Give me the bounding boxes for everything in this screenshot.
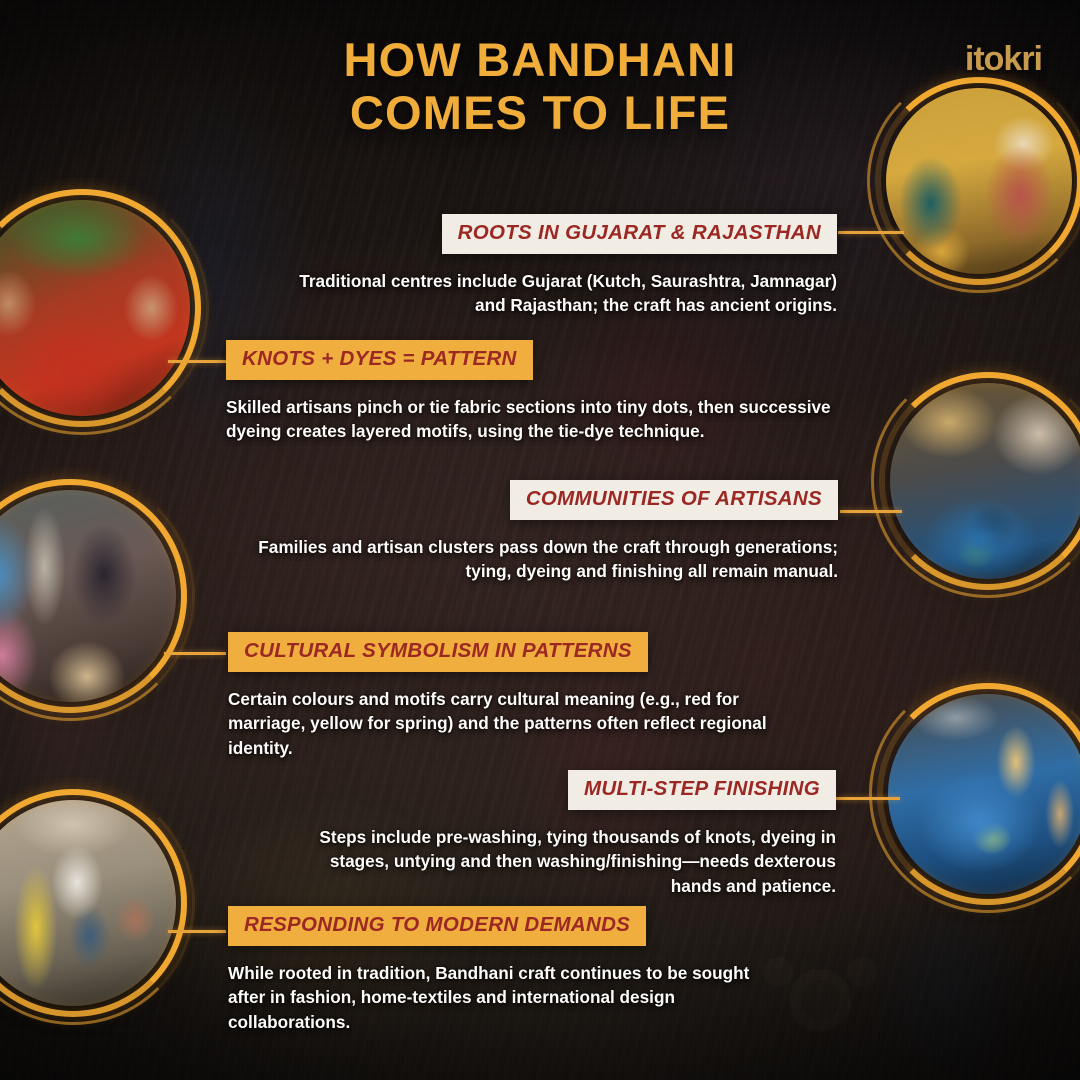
photo-medallion-artisan-dyeing-blue-tub [890,383,1080,579]
connector-stem-section-3 [840,510,902,513]
connector-stem-section-6 [168,930,226,933]
photo-medallion-hands-tying-red-fabric [0,200,190,416]
photo-medallion-women-tying-blue-pink-saris [0,490,176,702]
photo-medallion-blue-vat-yellow-dye [888,694,1080,894]
brand-logo[interactable]: itokri [965,40,1042,79]
section-roots-in-gujarat-rajasthan: ROOTS IN GUJARAT & RAJASTHAN Traditional… [237,214,837,318]
section-badge[interactable]: KNOTS + DYES = PATTERN [226,340,533,380]
connector-stem-section-5 [836,797,900,800]
section-badge[interactable]: MULTI-STEP FINISHING [568,770,836,810]
connector-stem-section-2 [168,360,226,363]
section-badge[interactable]: RESPONDING TO MODERN DEMANDS [228,906,646,946]
connector-stem-section-1 [838,231,904,234]
section-body: Skilled artisans pinch or tie fabric sec… [226,395,836,444]
photo-medallion-artisan-lifting-yellow-cloth [0,800,176,1006]
section-badge[interactable]: CULTURAL SYMBOLISM IN PATTERNS [228,632,648,672]
section-communities-of-artisans: COMMUNITIES OF ARTISANS Families and art… [238,480,838,584]
section-body: Certain colours and motifs carry cultura… [228,687,768,760]
section-responding-to-modern-demands: RESPONDING TO MODERN DEMANDS While roote… [228,906,848,1034]
page-title-line-1: HOW BANDHANI [344,33,737,86]
section-multi-step-finishing: MULTI-STEP FINISHING Steps include pre-w… [236,770,836,898]
section-knots-dyes-pattern: KNOTS + DYES = PATTERN Skilled artisans … [226,340,846,444]
section-body: Steps include pre-washing, tying thousan… [316,825,836,898]
section-body: While rooted in tradition, Bandhani craf… [228,961,788,1034]
section-badge[interactable]: ROOTS IN GUJARAT & RAJASTHAN [442,214,837,254]
page-title-line-2: COMES TO LIFE [0,87,1080,140]
section-cultural-symbolism-in-patterns: CULTURAL SYMBOLISM IN PATTERNS Certain c… [228,632,848,760]
connector-stem-section-4 [164,652,226,655]
section-badge[interactable]: COMMUNITIES OF ARTISANS [510,480,838,520]
section-body: Traditional centres include Gujarat (Kut… [277,269,837,318]
section-body: Families and artisan clusters pass down … [238,535,838,584]
page-title: HOW BANDHANI COMES TO LIFE [0,34,1080,139]
